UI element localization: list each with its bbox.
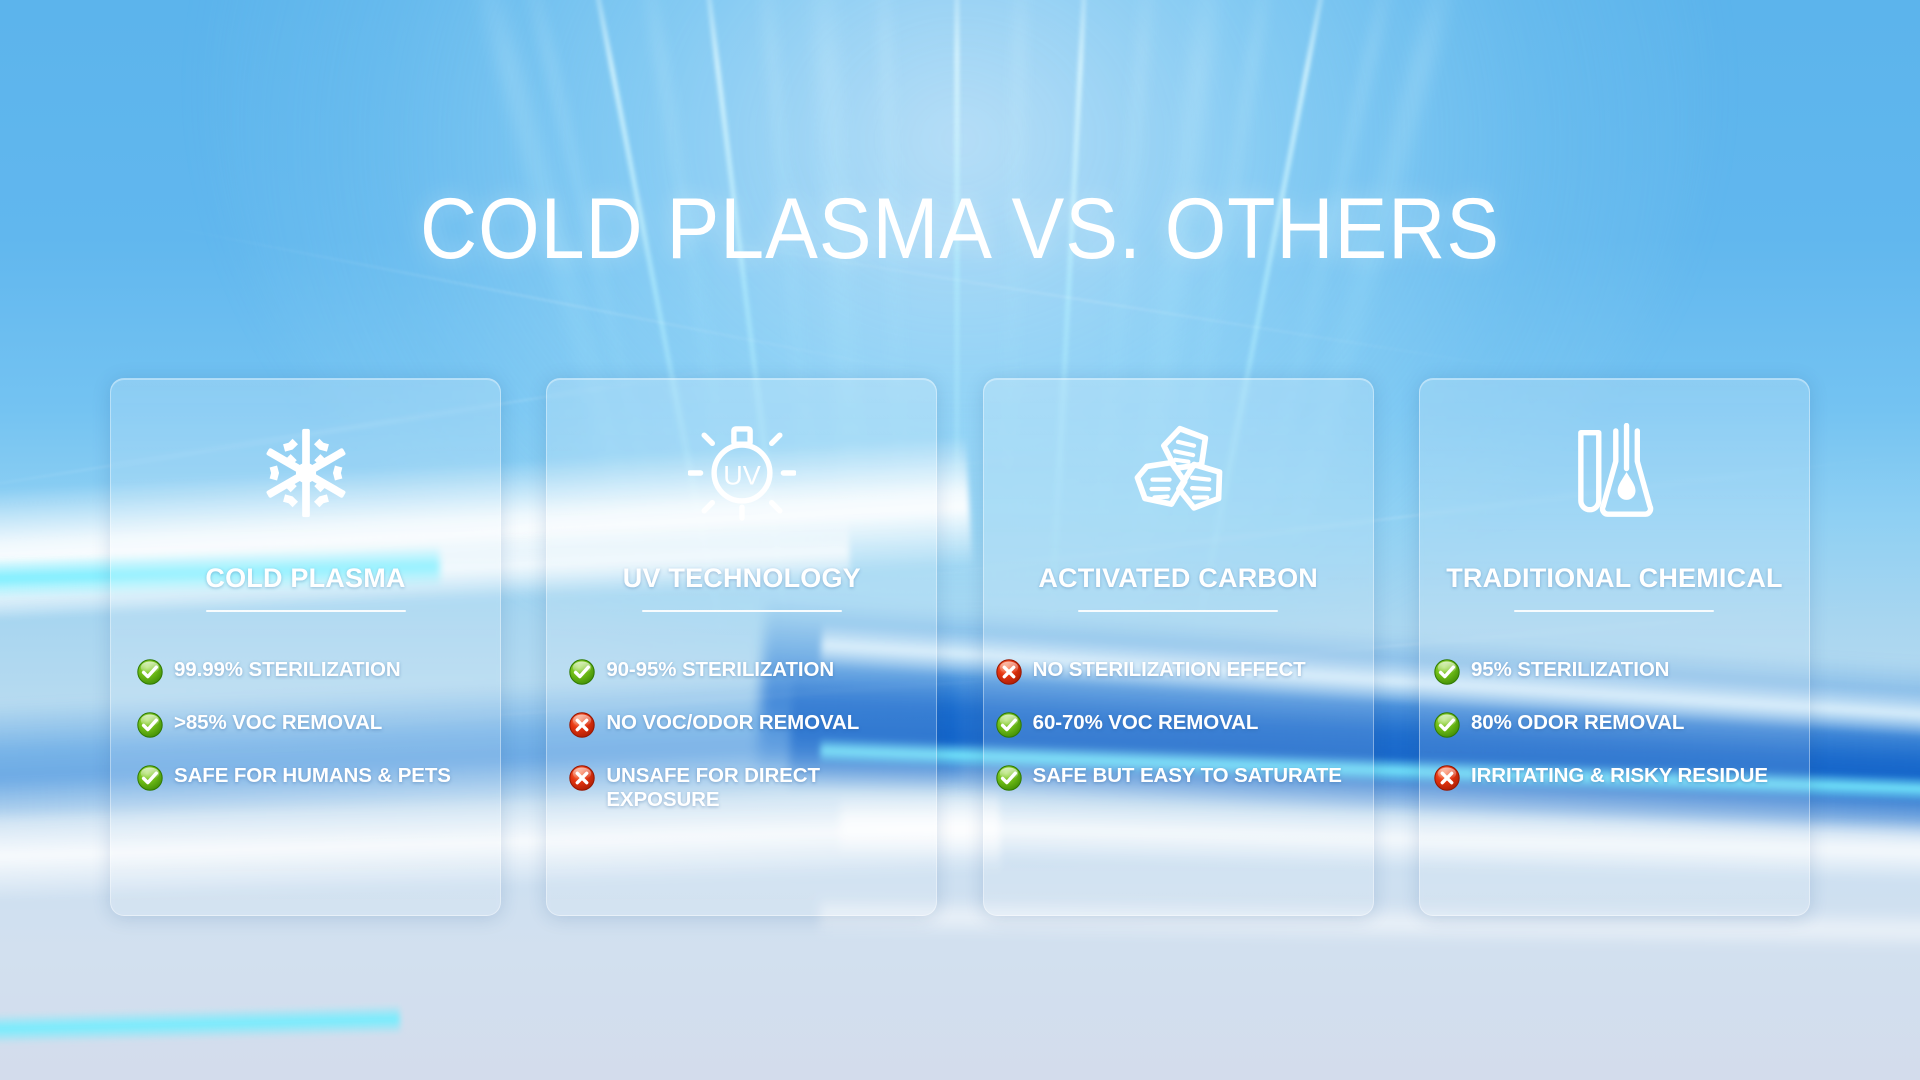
feature-item: UNSAFE FOR DIRECT EXPOSURE bbox=[569, 764, 914, 811]
card-title: ACTIVATED CARBON bbox=[1038, 563, 1318, 594]
card-title-divider bbox=[1078, 610, 1278, 612]
check-icon bbox=[1434, 659, 1460, 690]
feature-item: SAFE BUT EASY TO SATURATE bbox=[996, 764, 1351, 796]
feature-item: 60-70% VOC REMOVAL bbox=[996, 711, 1351, 743]
feature-label: NO STERILIZATION EFFECT bbox=[1033, 658, 1306, 682]
feature-label: >85% VOC REMOVAL bbox=[174, 711, 382, 735]
card-title-divider bbox=[642, 610, 842, 612]
feature-list: 95% STERILIZATION 80% ODOR REMOVAL bbox=[1420, 658, 1809, 796]
feature-item: SAFE FOR HUMANS & PETS bbox=[137, 764, 478, 796]
feature-item: NO VOC/ODOR REMOVAL bbox=[569, 711, 914, 743]
cross-icon bbox=[569, 712, 595, 743]
feature-list: 90-95% STERILIZATION NO VOC/ODOR REMOVAL bbox=[547, 658, 936, 811]
page-title: COLD PLASMA VS. OTHERS bbox=[77, 186, 1843, 272]
feature-label: NO VOC/ODOR REMOVAL bbox=[606, 711, 859, 735]
feature-label: 95% STERILIZATION bbox=[1471, 658, 1669, 682]
comparison-card-traditional-chemical[interactable]: TRADITIONAL CHEMICAL 95% STERILIZATION bbox=[1419, 378, 1810, 916]
feature-label: 80% ODOR REMOVAL bbox=[1471, 711, 1684, 735]
card-inner: TRADITIONAL CHEMICAL 95% STERILIZATION bbox=[1420, 379, 1809, 916]
check-icon bbox=[137, 765, 163, 796]
infographic-stage: COLD PLASMA VS. OTHERS bbox=[0, 0, 1920, 1080]
carbon-granules-icon bbox=[1126, 425, 1230, 521]
check-icon bbox=[137, 712, 163, 743]
feature-item: NO STERILIZATION EFFECT bbox=[996, 658, 1351, 690]
check-icon bbox=[569, 659, 595, 690]
card-inner: UV UV TECHNOLOGY 90-95% STERILIZATION bbox=[547, 379, 936, 916]
feature-label: SAFE BUT EASY TO SATURATE bbox=[1033, 764, 1342, 788]
feature-item: >85% VOC REMOVAL bbox=[137, 711, 478, 743]
feature-item: 80% ODOR REMOVAL bbox=[1434, 711, 1787, 743]
check-icon bbox=[137, 659, 163, 690]
feature-label: IRRITATING & RISKY RESIDUE bbox=[1471, 764, 1768, 788]
snowflake-icon bbox=[258, 425, 354, 521]
cross-icon bbox=[996, 659, 1022, 690]
feature-list: NO STERILIZATION EFFECT 60-70% VOC REMOV… bbox=[984, 658, 1373, 796]
comparison-card-uv-technology[interactable]: UV UV TECHNOLOGY 90-95% STERILIZATION bbox=[546, 378, 937, 916]
feature-label: SAFE FOR HUMANS & PETS bbox=[174, 764, 451, 788]
feature-label: UNSAFE FOR DIRECT EXPOSURE bbox=[606, 764, 914, 811]
svg-text:UV: UV bbox=[723, 461, 761, 491]
card-title: COLD PLASMA bbox=[205, 563, 405, 594]
card-title: UV TECHNOLOGY bbox=[623, 563, 861, 594]
feature-item: IRRITATING & RISKY RESIDUE bbox=[1434, 764, 1787, 796]
uv-sun-icon: UV bbox=[688, 425, 796, 521]
comparison-card-cold-plasma[interactable]: COLD PLASMA 99.99% STERILIZATION bbox=[110, 378, 501, 916]
card-inner: ACTIVATED CARBON NO STERILIZATION EFFECT bbox=[984, 379, 1373, 916]
feature-item: 95% STERILIZATION bbox=[1434, 658, 1787, 690]
feature-item: 99.99% STERILIZATION bbox=[137, 658, 478, 690]
check-icon bbox=[996, 712, 1022, 743]
feature-label: 60-70% VOC REMOVAL bbox=[1033, 711, 1259, 735]
feature-item: 90-95% STERILIZATION bbox=[569, 658, 914, 690]
card-inner: COLD PLASMA 99.99% STERILIZATION bbox=[111, 379, 500, 916]
cross-icon bbox=[1434, 765, 1460, 796]
comparison-card-activated-carbon[interactable]: ACTIVATED CARBON NO STERILIZATION EFFECT bbox=[983, 378, 1374, 916]
feature-label: 90-95% STERILIZATION bbox=[606, 658, 834, 682]
check-icon bbox=[1434, 712, 1460, 743]
check-icon bbox=[996, 765, 1022, 796]
card-title-divider bbox=[1514, 610, 1714, 612]
card-title-divider bbox=[206, 610, 406, 612]
card-title: TRADITIONAL CHEMICAL bbox=[1446, 563, 1782, 594]
feature-list: 99.99% STERILIZATION >85% VOC REMOVAL bbox=[111, 658, 500, 796]
test-tube-flask-icon bbox=[1571, 425, 1657, 521]
cross-icon bbox=[569, 765, 595, 796]
comparison-card-row: COLD PLASMA 99.99% STERILIZATION bbox=[110, 378, 1810, 916]
feature-label: 99.99% STERILIZATION bbox=[174, 658, 401, 682]
